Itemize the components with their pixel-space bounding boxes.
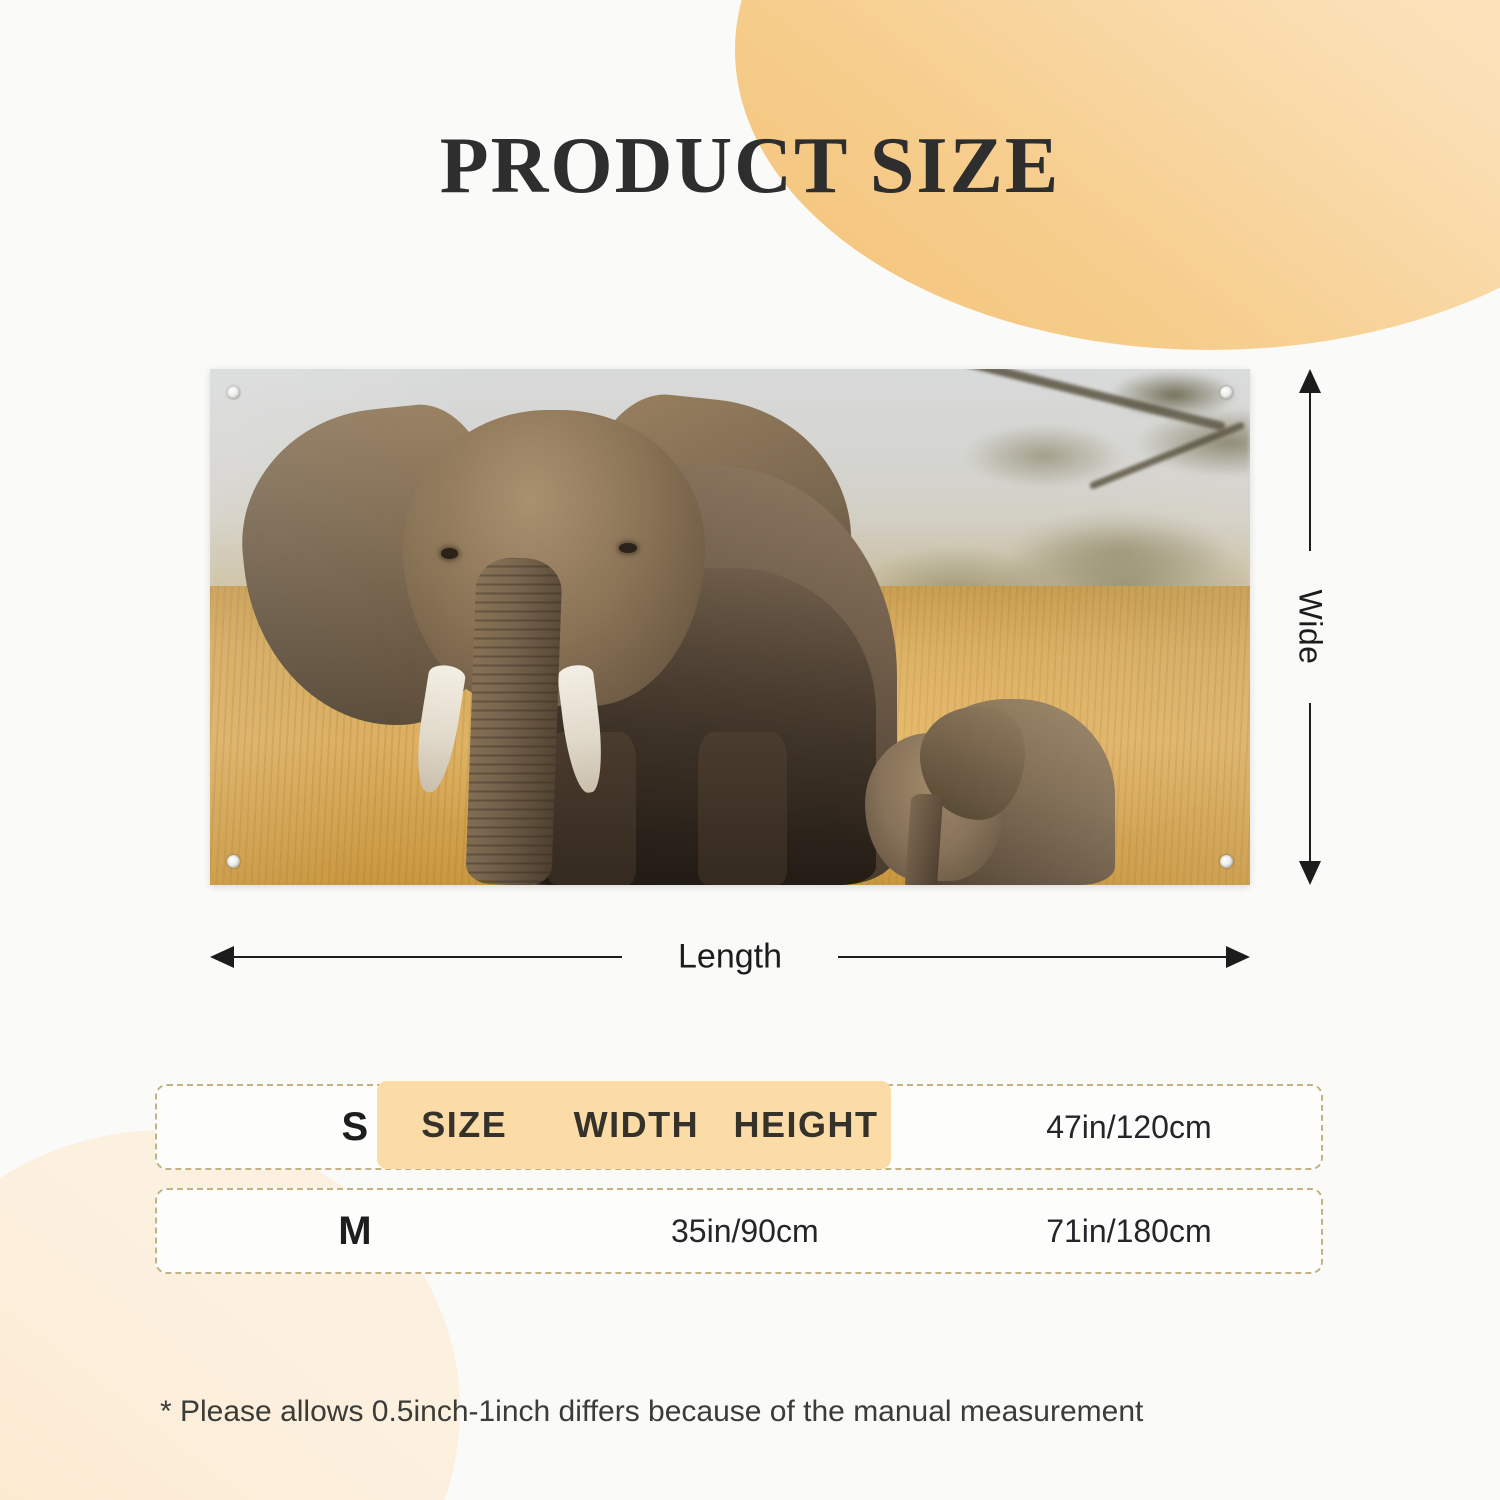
dimension-line — [1309, 391, 1311, 551]
dimension-line — [232, 956, 622, 958]
grommet-top-left — [227, 386, 240, 399]
wide-dimension-indicator: Wide — [1288, 369, 1332, 885]
cell-size: M — [157, 1209, 553, 1254]
product-size-infographic: PRODUCT SIZE — [0, 0, 1500, 1500]
dimension-line — [1309, 703, 1311, 863]
wide-label: Wide — [1292, 590, 1329, 665]
trunk-texture — [466, 557, 563, 885]
savanna-scene — [210, 369, 1250, 885]
table-header-row: SIZE WIDTH HEIGHT — [377, 1081, 891, 1169]
column-header-width: WIDTH — [552, 1104, 722, 1146]
elephant-eye — [441, 548, 459, 559]
size-table: SIZE WIDTH HEIGHT S 24in/60cm 47in/120cm… — [155, 1066, 1323, 1274]
calf-trunk — [904, 793, 943, 885]
elephant-leg — [698, 732, 787, 885]
grommet-top-right — [1220, 386, 1233, 399]
grommet-bottom-left — [227, 855, 240, 868]
grommet-bottom-right — [1220, 855, 1233, 868]
arrow-down-icon — [1299, 861, 1321, 885]
cell-height: 71in/180cm — [937, 1213, 1321, 1250]
arrow-left-icon — [210, 946, 234, 968]
banner-image — [210, 369, 1250, 885]
column-header-height: HEIGHT — [721, 1104, 891, 1146]
cell-height: 47in/120cm — [937, 1109, 1321, 1146]
cell-width: 35in/90cm — [553, 1213, 937, 1250]
arrow-up-icon — [1299, 369, 1321, 393]
length-label: Length — [660, 938, 800, 977]
elephant-trunk — [466, 557, 563, 885]
dimension-line — [838, 956, 1228, 958]
page-title: PRODUCT SIZE — [0, 121, 1500, 212]
arrow-right-icon — [1226, 946, 1250, 968]
adult-elephant — [272, 374, 958, 885]
measurement-disclaimer: * Please allows 0.5inch-1inch differs be… — [160, 1395, 1143, 1429]
column-header-size: SIZE — [377, 1104, 552, 1146]
baby-elephant — [865, 668, 1115, 885]
length-dimension-indicator: Length — [210, 935, 1250, 979]
product-preview — [210, 369, 1250, 885]
table-row: M 35in/90cm 71in/180cm — [155, 1188, 1323, 1274]
